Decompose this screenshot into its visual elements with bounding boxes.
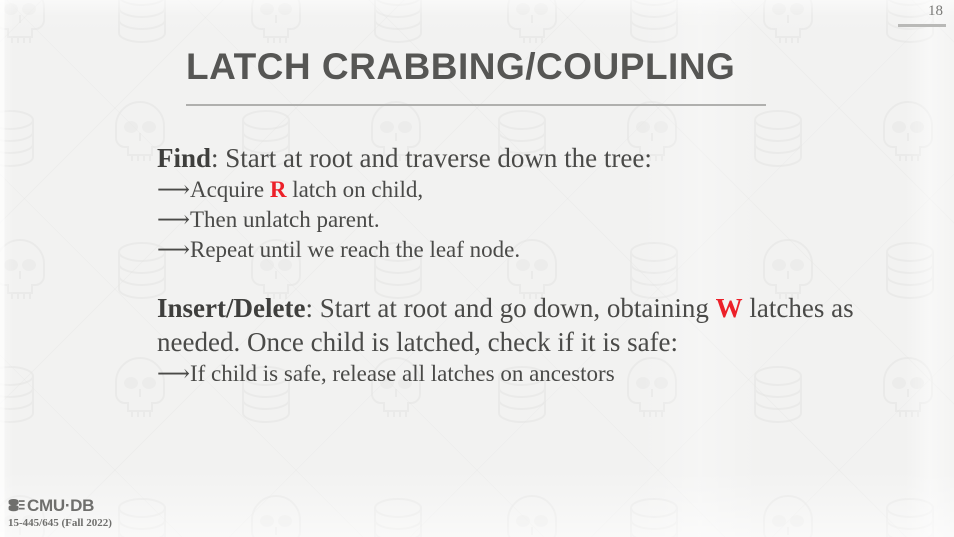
title-block: LATCH CRABBING/COUPLING (186, 48, 768, 106)
paragraph-find-lead-rest: : Start at root and traverse down the tr… (211, 143, 652, 173)
slide: 18 LATCH CRABBING/COUPLING Find: Start a… (0, 0, 954, 537)
page-number-block: 18 (898, 4, 946, 27)
page-number: 18 (898, 4, 946, 19)
list-item-text-before: If child is safe, release all latches on… (190, 361, 615, 386)
body-content: Find: Start at root and traverse down th… (157, 141, 857, 389)
arrow-icon: ⟶ (157, 359, 190, 389)
paragraph-find-lead: Find: Start at root and traverse down th… (157, 141, 857, 175)
footer: CMU·DB 15-445/645 (Fall 2022) (8, 497, 112, 529)
paragraph-spacer (157, 265, 857, 291)
list-item: ⟶Then unlatch parent. (157, 205, 857, 235)
list-item: ⟶Repeat until we reach the leaf node. (157, 235, 857, 265)
list-item: ⟶If child is safe, release all latches o… (157, 359, 857, 389)
arrow-icon: ⟶ (157, 235, 190, 265)
latch-mode-highlight-r: R (270, 177, 287, 202)
paragraph-find-lead-bold: Find (157, 143, 211, 173)
list-item-text-before: Acquire (190, 177, 270, 202)
paragraph-insert-delete-text-a: : Start at root and go down, obtaining (305, 293, 715, 323)
brand-logo: CMU·DB (8, 497, 112, 514)
arrow-icon: ⟶ (157, 205, 190, 235)
page-title: LATCH CRABBING/COUPLING (186, 48, 768, 87)
paragraph-insert-delete-lead-bold: Insert/Delete (157, 293, 305, 323)
brand-name: CMU·DB (27, 497, 94, 514)
course-label: 15-445/645 (Fall 2022) (8, 518, 112, 529)
arrow-icon: ⟶ (157, 175, 190, 205)
list-item: ⟶Acquire R latch on child, (157, 175, 857, 205)
list-item-text-before: Then unlatch parent. (190, 207, 380, 232)
list-item-text-after: latch on child, (286, 177, 423, 202)
database-stack-icon (8, 498, 25, 514)
paragraph-insert-delete-lead: Insert/Delete: Start at root and go down… (157, 291, 857, 359)
paragraph-insert-delete: Insert/Delete: Start at root and go down… (157, 291, 857, 389)
title-underline-rule (186, 104, 766, 106)
paragraph-find: Find: Start at root and traverse down th… (157, 141, 857, 265)
page-number-rule (898, 24, 946, 27)
list-item-text-before: Repeat until we reach the leaf node. (190, 237, 520, 262)
latch-mode-highlight-w: W (716, 293, 743, 323)
